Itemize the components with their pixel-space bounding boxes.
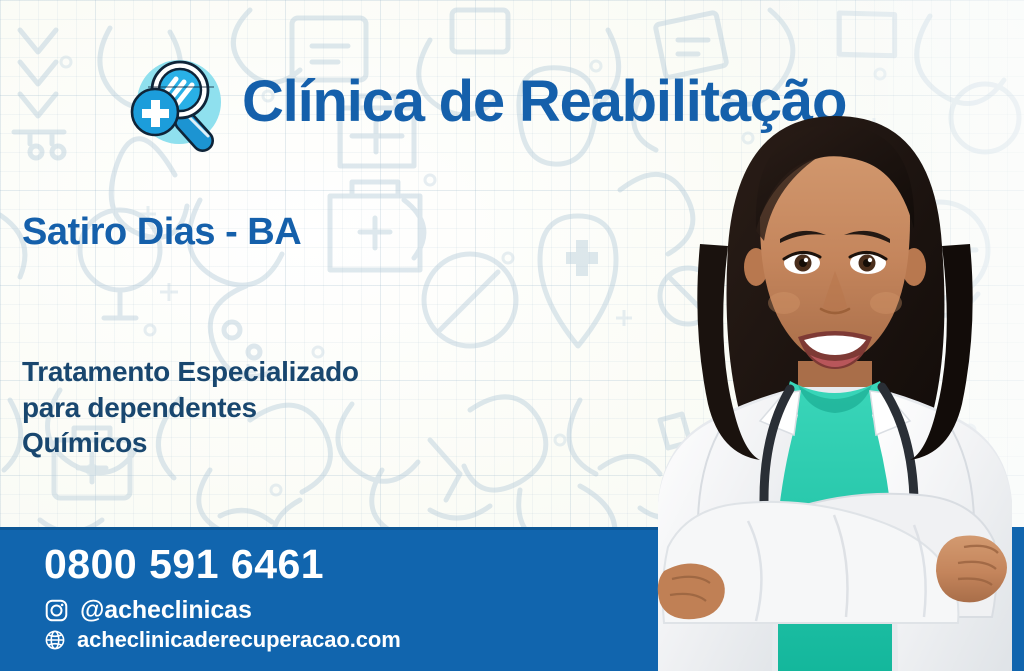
website-url: acheclinicaderecuperacao.com [77,629,401,651]
footer-content: 0800 591 6461 @acheclinicas [44,544,401,657]
clinic-banner: Clínica de Reabilitação Satiro Dias - BA… [0,0,1024,671]
location-title: Satiro Dias - BA [22,213,301,251]
instagram-icon [44,598,69,623]
instagram-row[interactable]: @acheclinicas [44,598,401,623]
tagline-line-3: Químicos [22,425,359,461]
website-row[interactable]: acheclinicaderecuperacao.com [44,629,401,651]
phone-number[interactable]: 0800 591 6461 [44,544,401,585]
tagline-line-1: Tratamento Especializado [22,354,359,390]
globe-icon [44,629,66,651]
tagline-line-2: para dependentes [22,390,359,426]
tagline-block: Tratamento Especializado para dependente… [22,354,359,461]
instagram-handle: @acheclinicas [80,598,252,623]
doctor-photo [638,71,1024,671]
magnifier-plus-logo [124,52,228,152]
